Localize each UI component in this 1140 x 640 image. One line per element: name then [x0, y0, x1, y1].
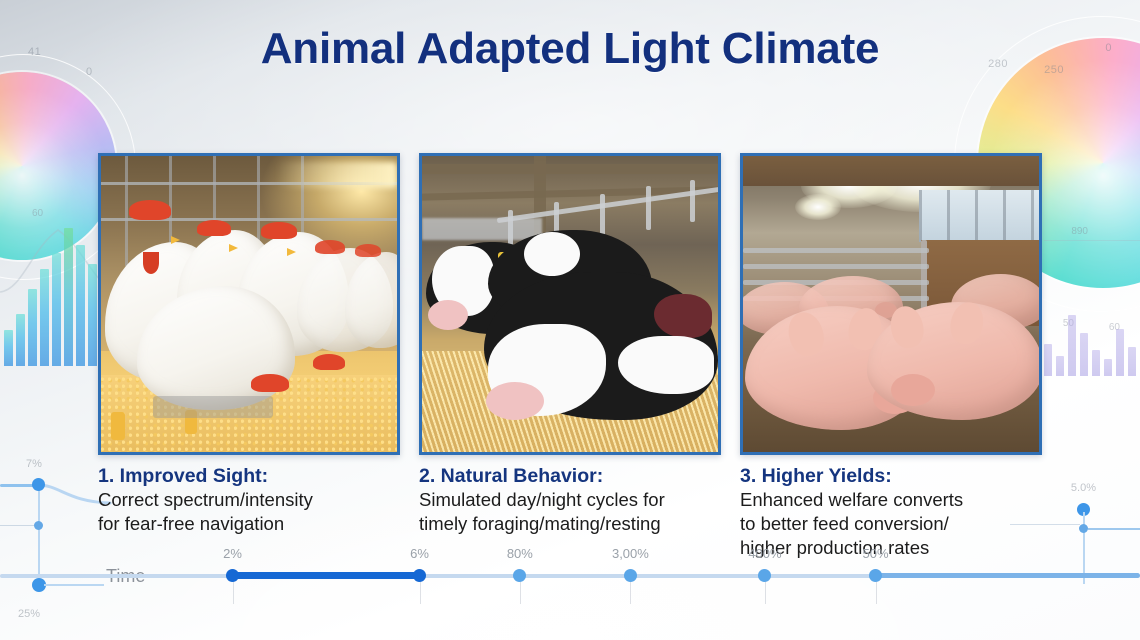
- cows-in-barn-photo: [419, 153, 721, 455]
- right-chart-axis-line: [1044, 240, 1140, 241]
- right-line-segment-1: [1088, 528, 1140, 530]
- timeline-node-2[interactable]: [413, 569, 426, 582]
- timeline-node-label-6: 50%: [863, 546, 889, 561]
- timeline-node-label-4: 3,00%: [612, 546, 649, 561]
- caption-heading: 1. Improved Sight:: [98, 465, 408, 488]
- timeline-fill-secondary: [876, 573, 1140, 578]
- left-bar-chart-label: 60: [32, 208, 43, 219]
- right-line-chart-label: 5.0%: [1071, 482, 1096, 494]
- slide-canvas: 41 0 280 250 0 60 890 50 60 7%: [0, 0, 1140, 640]
- pigs-in-barn-photo: [740, 153, 1042, 455]
- timeline-node-3[interactable]: [513, 569, 526, 582]
- right-bar-chart-label-1: 890: [1071, 226, 1088, 237]
- timeline-node-5[interactable]: [758, 569, 771, 582]
- caption-natural-behavior: 2. Natural Behavior: Simulated day/night…: [419, 465, 729, 536]
- caption-body-line-1: Enhanced welfare converts: [740, 489, 1050, 512]
- timeline-node-label-5: 400%: [748, 546, 781, 561]
- left-line-segment-2: [0, 525, 34, 526]
- timeline-tick-2: [420, 582, 421, 604]
- timeline-tick-3: [520, 582, 521, 604]
- timeline-slider[interactable]: Time 2% 6% 80% 3,00% 400% 50%: [0, 546, 1140, 606]
- page-title: Animal Adapted Light Climate: [0, 24, 1140, 74]
- timeline-node-1[interactable]: [226, 569, 239, 582]
- timeline-node-label-3: 80%: [507, 546, 533, 561]
- caption-body-line-1: Simulated day/night cycles for: [419, 489, 729, 512]
- caption-heading: 3. Higher Yields:: [740, 465, 1050, 488]
- timeline-node-4[interactable]: [624, 569, 637, 582]
- caption-body-line-1: Correct spectrum/intensity: [98, 489, 408, 512]
- timeline-tick-5: [765, 582, 766, 604]
- left-line-node-1: [32, 478, 45, 491]
- left-line-chart-label-1: 7%: [26, 458, 42, 470]
- card-row: 1. Improved Sight: Correct spectrum/inte…: [98, 153, 1042, 560]
- timeline-tick-4: [630, 582, 631, 604]
- timeline-node-6[interactable]: [869, 569, 882, 582]
- chickens-in-barn-photo: [98, 153, 400, 455]
- timeline-node-label-1: 2%: [223, 546, 242, 561]
- caption-heading: 2. Natural Behavior:: [419, 465, 729, 488]
- caption-body-line-2: to better feed conversion/: [740, 513, 1050, 536]
- timeline-tick-6: [876, 582, 877, 604]
- card-improved-sight: 1. Improved Sight: Correct spectrum/inte…: [98, 153, 400, 560]
- caption-body-line-2: timely foraging/mating/resting: [419, 513, 729, 536]
- card-higher-yields: 3. Higher Yields: Enhanced welfare conve…: [740, 153, 1042, 560]
- timeline-tick-1: [233, 582, 234, 604]
- right-decorative-bar-chart: [1032, 300, 1136, 376]
- caption-body-line-2: for fear-free navigation: [98, 513, 408, 536]
- timeline-node-label-2: 6%: [410, 546, 429, 561]
- caption-improved-sight: 1. Improved Sight: Correct spectrum/inte…: [98, 465, 408, 536]
- left-line-node-2: [34, 521, 43, 530]
- right-line-node-2: [1079, 524, 1088, 533]
- timeline-fill-active: [233, 572, 420, 579]
- left-line-chart-label-2: 25%: [18, 608, 40, 620]
- card-natural-behavior: 2. Natural Behavior: Simulated day/night…: [419, 153, 721, 560]
